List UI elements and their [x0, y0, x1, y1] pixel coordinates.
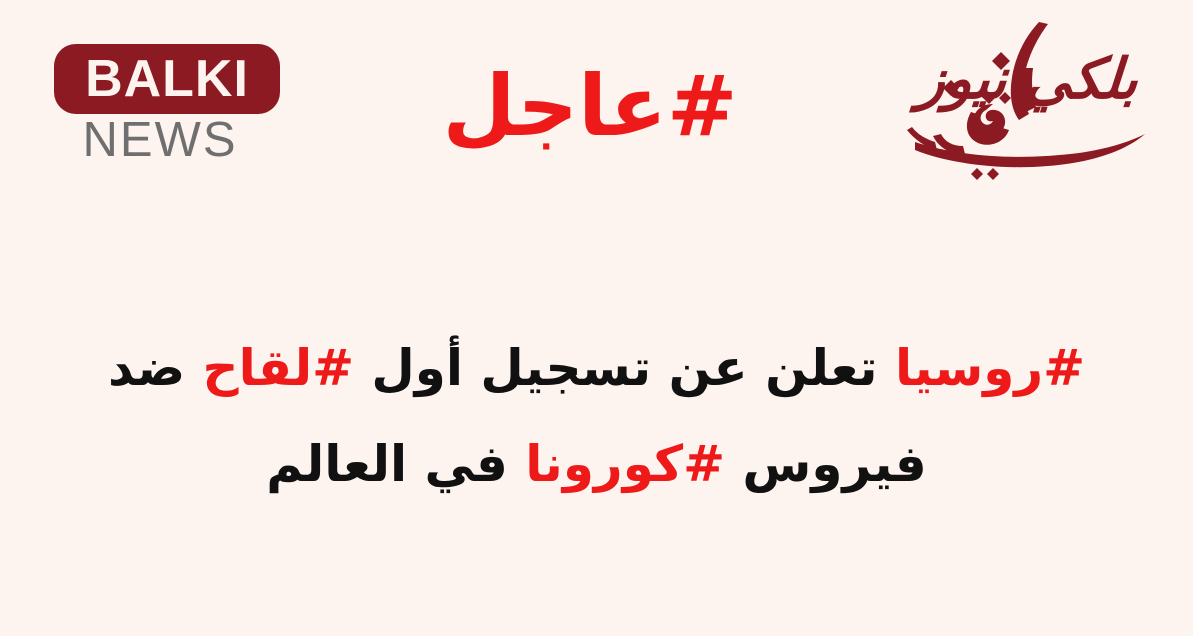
headline-line-1: #روسيا تعلن عن تسجيل أول #لقاح ضد — [60, 320, 1133, 416]
breaking-news-tag: #عاجل — [420, 52, 760, 160]
balki-news-arabic-logo[interactable]: بلكي نيوز — [893, 8, 1163, 188]
headline-line-2-text-b: في العالم — [266, 435, 525, 493]
balki-news-arabic-label: بلكي نيوز — [896, 42, 1159, 118]
logo-plate-label: BALKI — [85, 53, 249, 105]
headline: #روسيا تعلن عن تسجيل أول #لقاح ضد فيروس … — [60, 320, 1133, 512]
header-bar: BALKI NEWS #عاجل — [0, 0, 1193, 200]
news-graphic-card: BALKI NEWS #عاجل — [0, 0, 1193, 636]
headline-line-1-text-b: ضد — [108, 339, 203, 397]
hashtag-vaccine: #لقاح — [203, 339, 354, 397]
logo-sub-label: NEWS — [40, 112, 280, 168]
headline-line-2-text-a: فيروس — [725, 435, 927, 493]
balki-news-logo[interactable]: BALKI NEWS — [40, 44, 280, 184]
hashtag-corona: #كورونا — [525, 435, 725, 493]
logo-plate: BALKI — [54, 44, 280, 114]
headline-line-1-text-a: تعلن عن تسجيل أول — [354, 339, 895, 397]
headline-line-2: فيروس #كورونا في العالم — [60, 416, 1133, 512]
hashtag-russia: #روسيا — [895, 339, 1085, 397]
